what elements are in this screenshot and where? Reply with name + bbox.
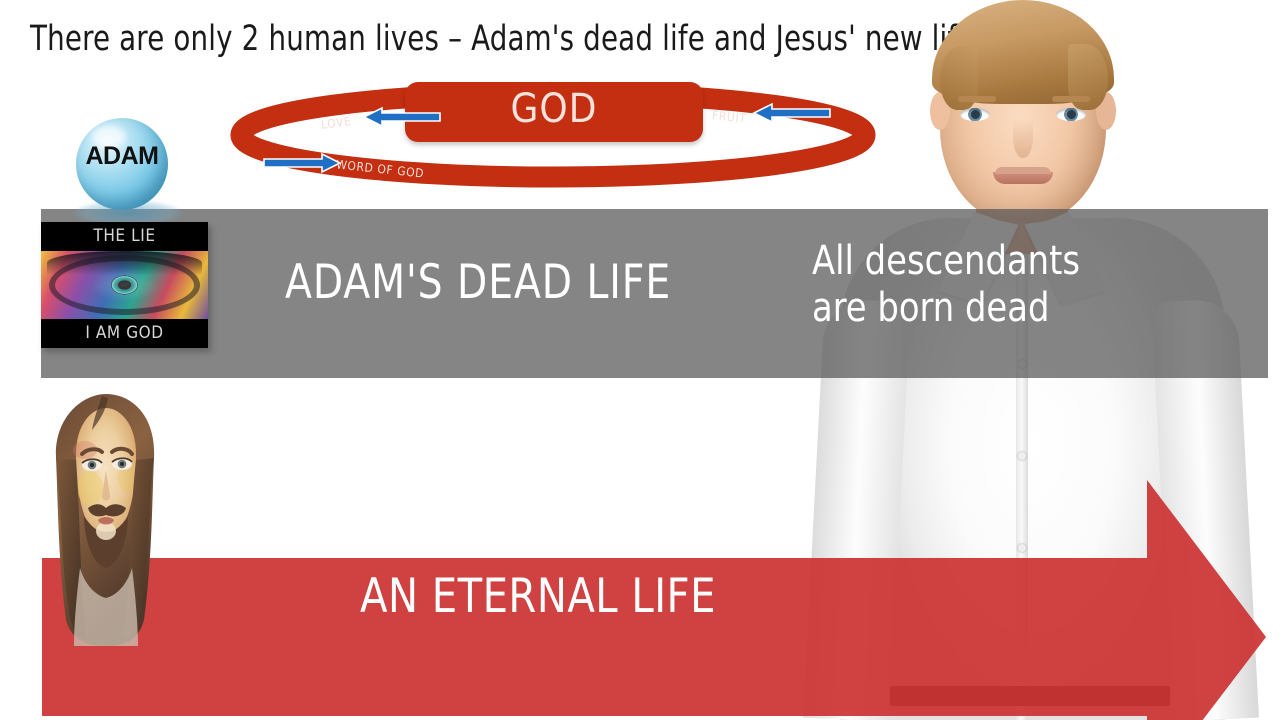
the-lie-box: THE LIE I AM GOD <box>41 222 208 348</box>
photo-nose <box>1013 118 1033 158</box>
slide-canvas: There are only 2 human lives – Adam's de… <box>0 0 1280 720</box>
photo-hair <box>932 0 1114 104</box>
photo-belt <box>890 686 1170 706</box>
jesus-banner-line2: AN ETERNAL LIFE <box>244 562 833 631</box>
jesus-banner-line1: THE NEW LIFE OF JESUS <box>244 493 833 562</box>
descendants-note: All descendants are born dead <box>812 238 1122 332</box>
photo-eyebrow-right <box>1052 96 1090 102</box>
descendants-note-line2: are born dead <box>812 285 1122 332</box>
photo-shirt-button <box>1018 636 1026 644</box>
eye-image <box>41 251 208 319</box>
arrow-left-icon <box>360 106 442 128</box>
photo-eyebrow-left <box>958 96 996 102</box>
god-label: GOD <box>405 86 703 132</box>
descendants-note-line1: All descendants <box>812 238 1122 285</box>
adam-label: ADAM <box>76 142 168 171</box>
adam-sphere: ADAM <box>76 118 176 228</box>
photo-mouth <box>993 172 1053 184</box>
photo-pupil-right <box>1067 110 1076 119</box>
photo-shirt-button <box>1018 452 1026 460</box>
arrow-right-icon <box>262 152 344 174</box>
jesus-watercolor-portrait <box>40 392 170 652</box>
the-lie-top-label: THE LIE <box>41 222 208 251</box>
jesus-banner-text: THE NEW LIFE OF JESUS AN ETERNAL LIFE <box>244 493 833 631</box>
adams-dead-life-label: ADAM'S DEAD LIFE <box>285 255 671 310</box>
photo-pupil-left <box>971 110 980 119</box>
the-lie-bottom-label: I AM GOD <box>41 319 208 348</box>
photo-shirt-button <box>1018 544 1026 552</box>
